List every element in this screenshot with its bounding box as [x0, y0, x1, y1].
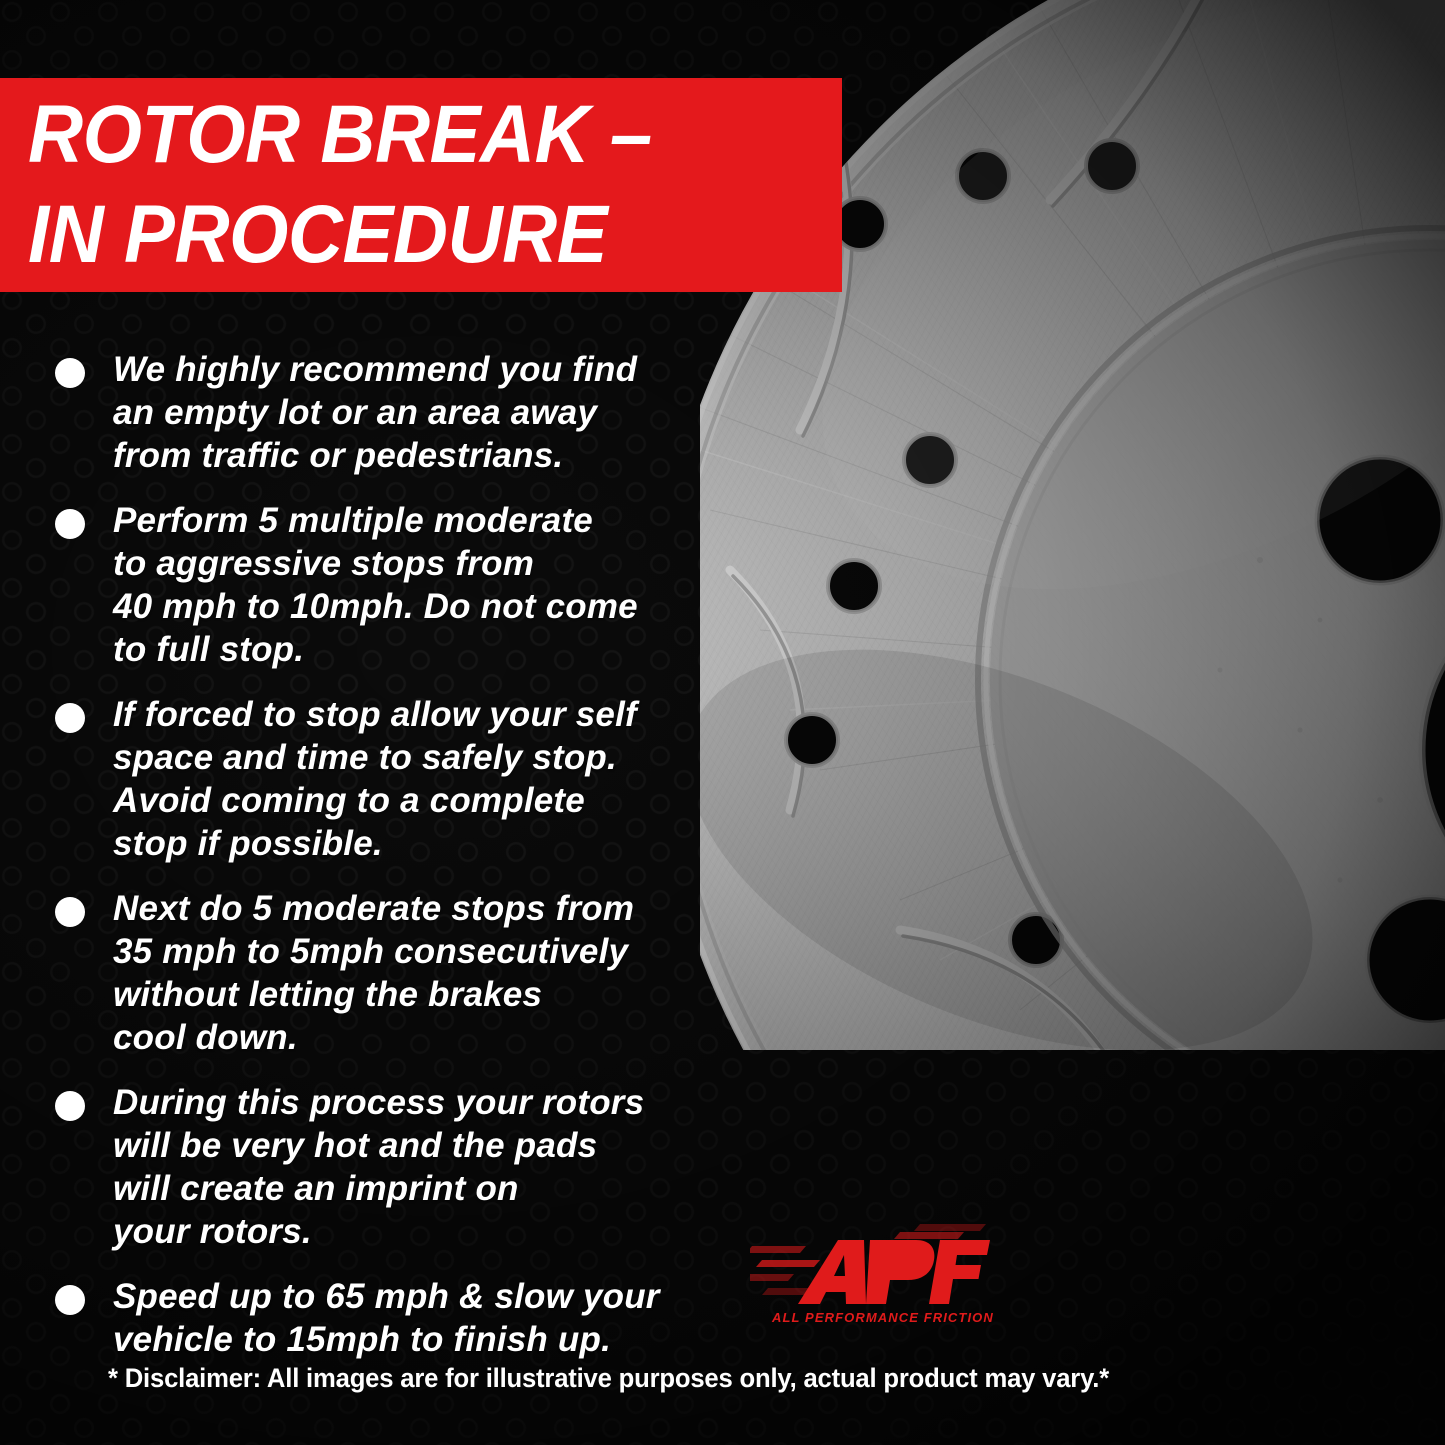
list-item: During this process your rotors will be … [0, 1081, 760, 1253]
list-item-text: Speed up to 65 mph & slow your vehicle t… [113, 1275, 660, 1361]
list-item-text: During this process your rotors will be … [113, 1081, 644, 1253]
bullet-dot-icon [55, 1285, 85, 1315]
list-item-text: Next do 5 moderate stops from 35 mph to … [113, 887, 634, 1059]
list-item-text: We highly recommend you find an empty lo… [113, 348, 637, 477]
list-item-text: If forced to stop allow your self space … [113, 693, 637, 865]
page-title-line-2: IN PROCEDURE [28, 185, 785, 285]
list-item: If forced to stop allow your self space … [0, 693, 760, 865]
list-item: Perform 5 multiple moderate to aggressiv… [0, 499, 760, 671]
bullet-dot-icon [55, 509, 85, 539]
list-item-text: Perform 5 multiple moderate to aggressiv… [113, 499, 638, 671]
list-item: Next do 5 moderate stops from 35 mph to … [0, 887, 760, 1059]
disclaimer-text: * Disclaimer: All images are for illustr… [108, 1362, 1109, 1394]
bullet-dot-icon [55, 703, 85, 733]
list-item: We highly recommend you find an empty lo… [0, 348, 760, 477]
list-item: Speed up to 65 mph & slow your vehicle t… [0, 1275, 760, 1361]
logo-tagline: ALL PERFORMANCE FRICTION [771, 1310, 994, 1325]
title-banner: ROTOR BREAK – IN PROCEDURE [0, 78, 842, 292]
promo-graphic: ROTOR BREAK – IN PROCEDURE We highly rec… [0, 0, 1445, 1445]
bullet-dot-icon [55, 897, 85, 927]
apf-logo: ALL PERFORMANCE FRICTION APF ALL PERFORM… [750, 1222, 1000, 1327]
bullet-dot-icon [55, 1091, 85, 1121]
logo-wordmark [798, 1240, 990, 1304]
instruction-list: We highly recommend you find an empty lo… [0, 348, 760, 1383]
page-title-line-1: ROTOR BREAK – [28, 85, 785, 185]
bullet-dot-icon [55, 358, 85, 388]
